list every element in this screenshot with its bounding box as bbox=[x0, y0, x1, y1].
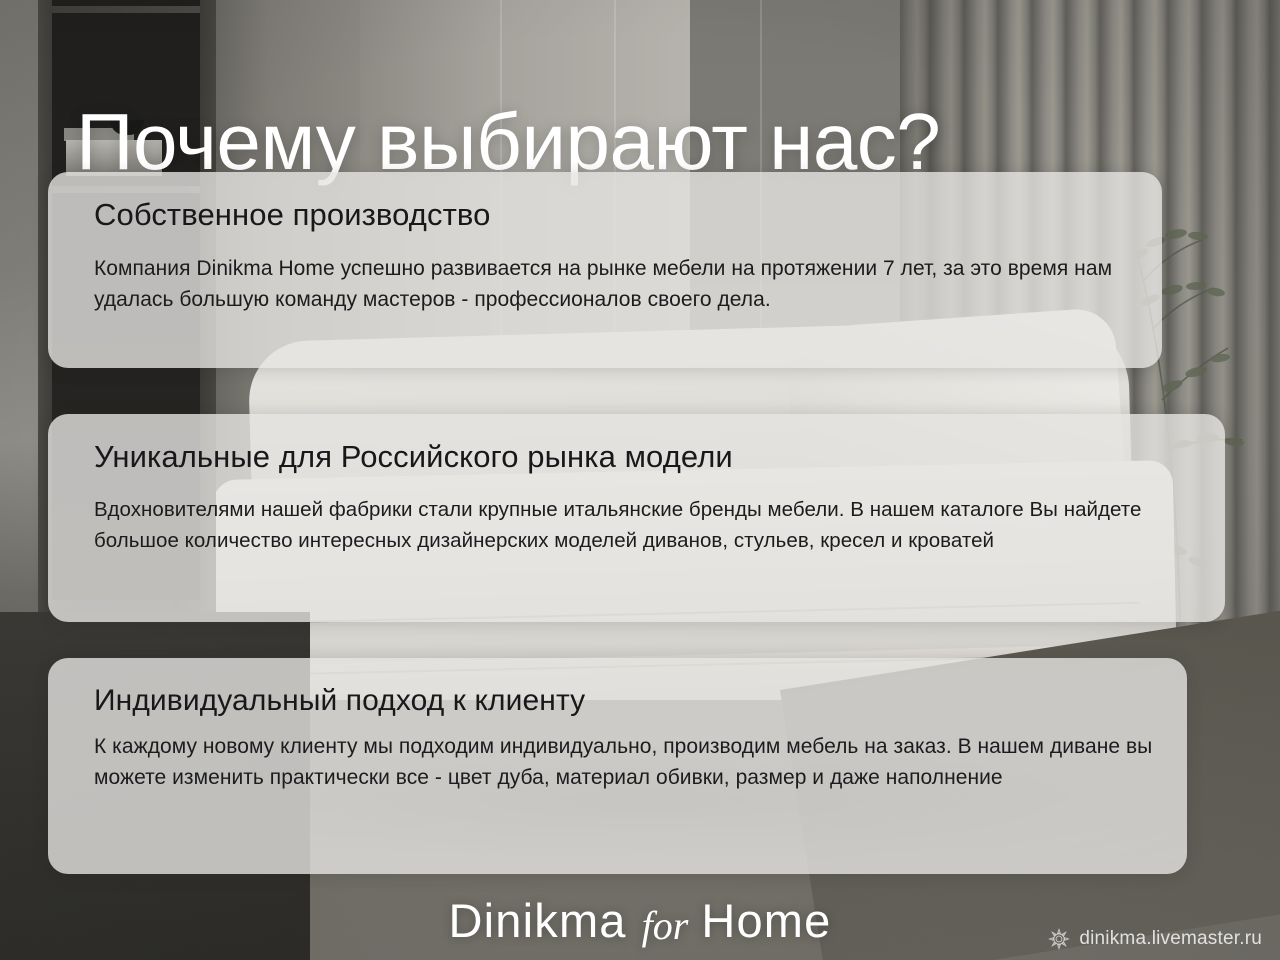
brand-name: Dinikma bbox=[448, 894, 626, 947]
feature-card-title: Собственное производство bbox=[94, 198, 1128, 232]
watermark-text: dinikma.livemaster.ru bbox=[1079, 928, 1262, 950]
feature-card-title: Индивидуальный подход к клиенту bbox=[94, 684, 1153, 717]
promo-poster: Почему выбирают нас? Собственное произво… bbox=[0, 0, 1280, 960]
page-title: Почему выбирают нас? bbox=[76, 102, 940, 182]
brand-connector: for bbox=[642, 903, 689, 948]
feature-card-body: Вдохновителями нашей фабрики стали крупн… bbox=[94, 494, 1191, 556]
feature-card-body: К каждому новому клиенту мы подходим инд… bbox=[94, 731, 1153, 793]
feature-card-body: Компания Dinikma Home успешно развиваетс… bbox=[94, 254, 1128, 315]
feature-card-individual-approach: Индивидуальный подход к клиенту К каждом… bbox=[48, 658, 1187, 874]
brand-suffix: Home bbox=[701, 894, 831, 947]
feature-card-own-production: Собственное производство Компания Dinikm… bbox=[48, 172, 1162, 368]
starburst-icon bbox=[1048, 928, 1070, 950]
poster-content: Почему выбирают нас? Собственное произво… bbox=[0, 0, 1280, 960]
feature-card-unique-models: Уникальные для Российского рынка модели … bbox=[48, 414, 1225, 622]
feature-card-title: Уникальные для Российского рынка модели bbox=[94, 440, 1191, 474]
watermark: dinikma.livemaster.ru bbox=[1048, 928, 1262, 950]
